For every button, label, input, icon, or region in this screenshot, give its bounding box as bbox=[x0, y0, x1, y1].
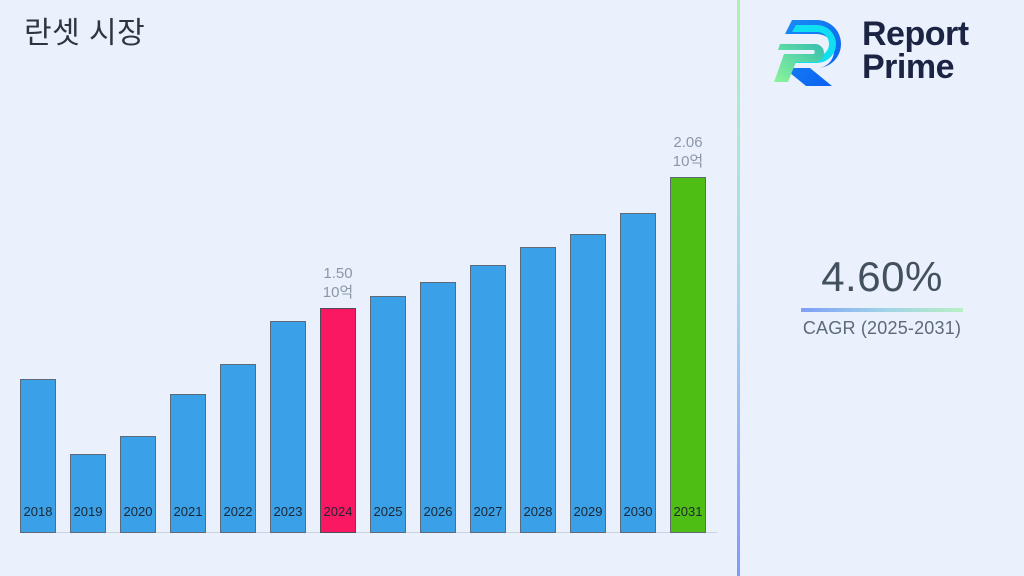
bar-value-unit-2031: 10억 bbox=[673, 152, 704, 171]
side-panel: Report Prime 4.60% CAGR (2025-2031) bbox=[740, 0, 1024, 576]
bar-value-label-2024: 1.5010억 bbox=[323, 264, 354, 302]
bar-2029[interactable] bbox=[570, 234, 606, 533]
x-tick-2019: 2019 bbox=[74, 504, 103, 519]
brand-wordmark: Report Prime bbox=[862, 18, 969, 85]
x-tick-2029: 2029 bbox=[574, 504, 603, 519]
x-tick-2020: 2020 bbox=[124, 504, 153, 519]
bar-value-label-2031: 2.0610억 bbox=[673, 133, 704, 171]
x-tick-2022: 2022 bbox=[224, 504, 253, 519]
bar-2024[interactable] bbox=[320, 308, 356, 533]
brand-wordmark-line1: Report bbox=[862, 18, 969, 51]
bar-value-unit-2024: 10억 bbox=[323, 283, 354, 302]
x-tick-2021: 2021 bbox=[174, 504, 203, 519]
chart-screenshot: 란셋 시장 2018201920202021202220231.5010억202… bbox=[0, 0, 1024, 576]
chart-panel: 란셋 시장 2018201920202021202220231.5010억202… bbox=[0, 0, 737, 576]
x-tick-2018: 2018 bbox=[24, 504, 53, 519]
bar-2026[interactable] bbox=[420, 282, 456, 533]
bar-value-number-2031: 2.06 bbox=[673, 133, 704, 152]
bar-value-number-2024: 1.50 bbox=[323, 264, 354, 283]
x-tick-2023: 2023 bbox=[274, 504, 303, 519]
x-tick-2030: 2030 bbox=[624, 504, 653, 519]
x-tick-2027: 2027 bbox=[474, 504, 503, 519]
x-tick-2026: 2026 bbox=[424, 504, 453, 519]
plot-area: 2018201920202021202220231.5010억202420252… bbox=[0, 0, 737, 576]
report-prime-r-mark-icon bbox=[770, 12, 848, 90]
bar-2019[interactable] bbox=[70, 454, 106, 533]
x-tick-2025: 2025 bbox=[374, 504, 403, 519]
cagr-value: 4.60% bbox=[740, 252, 1024, 302]
x-tick-2028: 2028 bbox=[524, 504, 553, 519]
x-tick-2024: 2024 bbox=[324, 504, 353, 519]
cagr-divider-rule bbox=[801, 308, 963, 312]
bar-2027[interactable] bbox=[470, 265, 506, 533]
bar-2025[interactable] bbox=[370, 296, 406, 533]
brand-logo: Report Prime bbox=[770, 12, 969, 90]
bar-2030[interactable] bbox=[620, 213, 656, 533]
cagr-block: 4.60% CAGR (2025-2031) bbox=[740, 252, 1024, 339]
cagr-caption: CAGR (2025-2031) bbox=[740, 318, 1024, 339]
bar-2028[interactable] bbox=[520, 247, 556, 533]
bar-2023[interactable] bbox=[270, 321, 306, 533]
x-tick-2031: 2031 bbox=[674, 504, 703, 519]
bar-2031[interactable] bbox=[670, 177, 706, 533]
brand-wordmark-line2: Prime bbox=[862, 51, 969, 84]
